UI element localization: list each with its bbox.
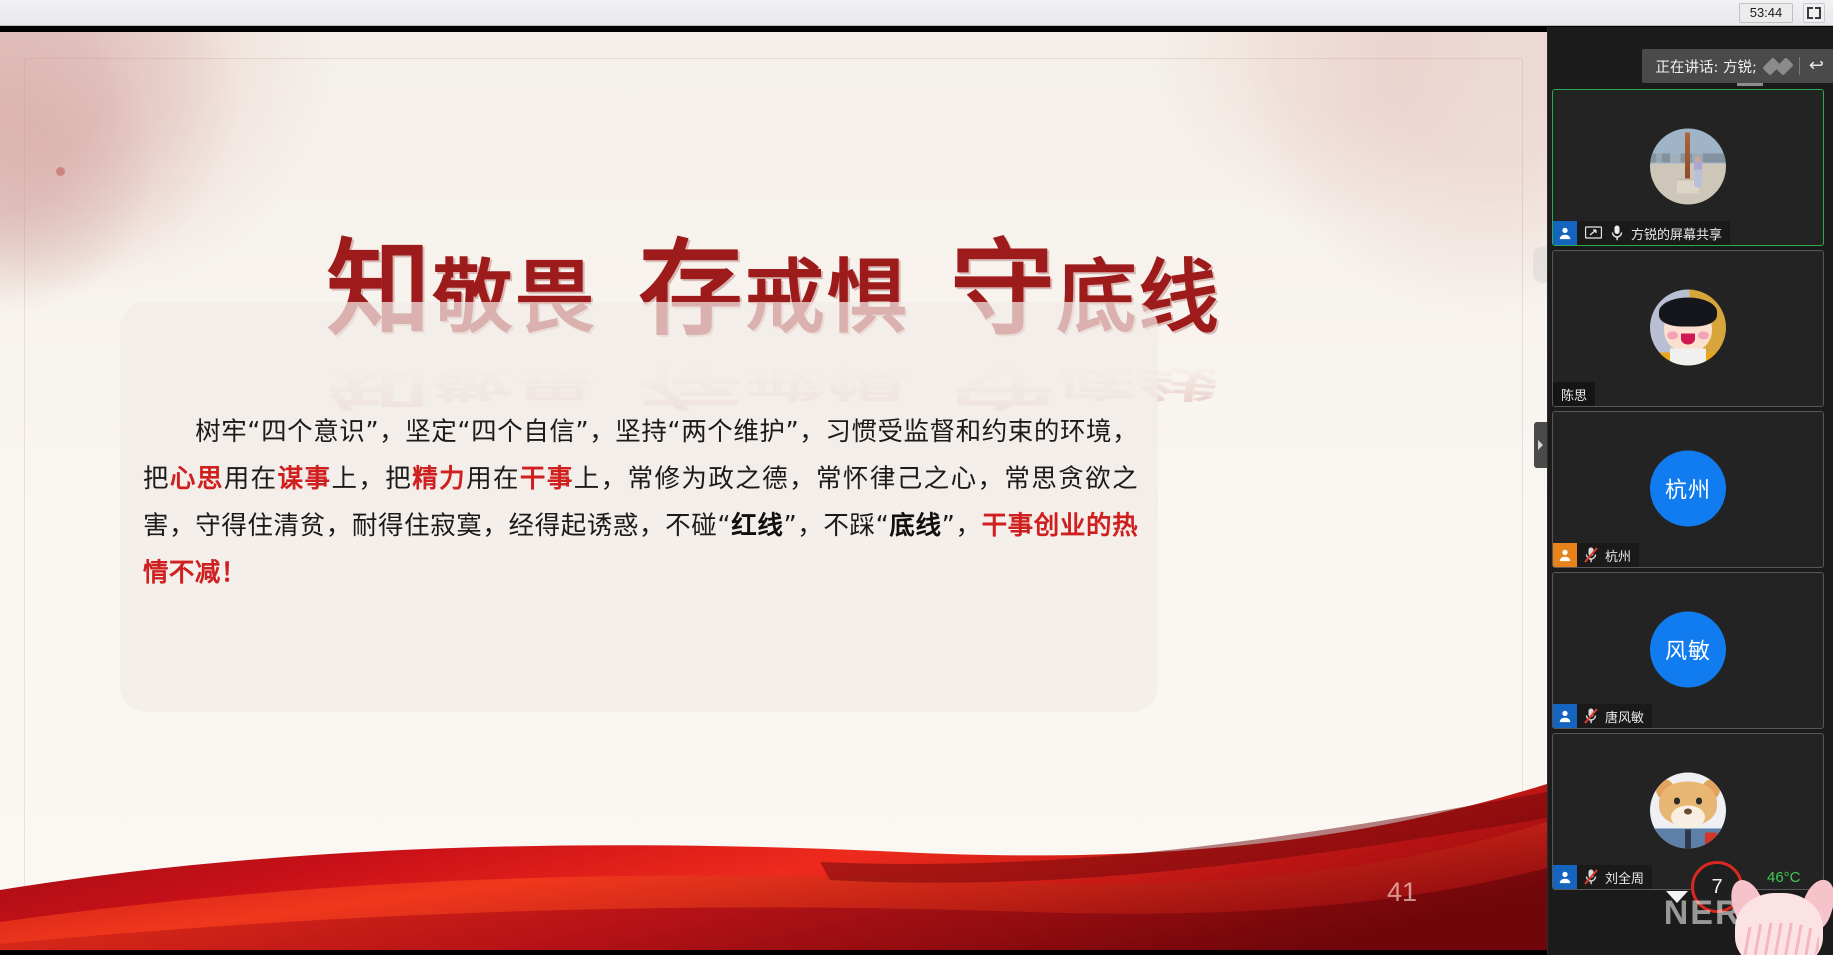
avatar	[1650, 128, 1726, 204]
body-run-5: 上，把	[331, 464, 412, 494]
participant-tile-4[interactable]: 风敏 唐风敏	[1552, 572, 1824, 729]
participant-name-1: 方锐的屏幕共享	[1631, 224, 1722, 243]
presentation-slide: 知敬畏存戒惧守底线 知敬畏存戒惧守底线 树牢“四个意识”，坚定“四个自信”，坚持…	[0, 32, 1547, 950]
participant-tile-3[interactable]: 杭州 杭州	[1552, 411, 1824, 568]
person-icon	[1553, 543, 1577, 567]
microphone-muted-icon	[1583, 868, 1599, 886]
avatar: 杭州	[1650, 450, 1726, 526]
participant-label-2: 陈思	[1553, 382, 1595, 406]
person-icon	[1553, 704, 1577, 728]
participant-label-4: 唐风敏	[1553, 704, 1652, 728]
microphone-icon	[1609, 224, 1625, 242]
meeting-timer: 53:44	[1739, 3, 1793, 23]
slide-page-number: 41	[1387, 877, 1417, 908]
body-run-2: 心思	[170, 464, 224, 494]
microphone-muted-icon	[1583, 546, 1599, 564]
participant-name-2: 陈思	[1561, 385, 1587, 404]
fullscreen-icon[interactable]	[1803, 3, 1825, 23]
decor-dot	[56, 167, 65, 176]
body-run-15: ！	[221, 558, 247, 588]
audio-wave-icon	[1766, 59, 1790, 74]
participant-label-5: 刘全周	[1553, 865, 1652, 889]
body-run-7: 用在	[466, 464, 520, 494]
participant-name-3: 杭州	[1605, 546, 1631, 565]
participant-name-4: 唐风敏	[1605, 707, 1644, 726]
participant-name-5: 刘全周	[1605, 868, 1644, 887]
speaking-banner-label: 正在讲话: 方锐;	[1656, 56, 1757, 77]
banner-notch	[1737, 83, 1763, 86]
body-run-3: 用在	[224, 464, 278, 494]
screen-share-icon	[1583, 224, 1603, 242]
avatar	[1650, 289, 1726, 365]
speaking-banner: 正在讲话: 方锐; ↩	[1642, 49, 1833, 83]
body-run-11: ”，不踩“	[783, 511, 889, 541]
avatar: 风敏	[1650, 611, 1726, 687]
banner-divider	[1799, 57, 1800, 75]
participant-tile-2[interactable]: 陈思	[1552, 250, 1824, 407]
participant-tile-1[interactable]: 方锐的屏幕共享	[1552, 89, 1824, 246]
body-run-10: 红线	[731, 511, 783, 541]
slide-body-text: 树牢“四个意识”，坚定“四个自信”，坚持“两个维护”，习惯受监督和约束的环境，把…	[143, 409, 1138, 597]
body-run-13: ”，	[942, 511, 982, 541]
ribbon-shape	[0, 740, 1547, 950]
top-toolbar: 53:44	[0, 0, 1833, 26]
person-icon	[1553, 865, 1577, 889]
back-arrow-icon[interactable]: ↩	[1809, 57, 1824, 75]
avatar	[1650, 772, 1726, 848]
microphone-muted-icon	[1583, 707, 1599, 725]
body-run-4: 谋事	[278, 464, 332, 494]
body-run-8: 干事	[520, 464, 574, 494]
person-icon	[1553, 221, 1577, 245]
participant-label-3: 杭州	[1553, 543, 1639, 567]
stage-side-tab[interactable]	[1533, 247, 1547, 283]
cat-watermark-icon: Better me!	[1721, 869, 1833, 955]
slide-ribbon-decoration: 41	[0, 740, 1547, 950]
body-run-12: 底线	[889, 511, 941, 541]
participant-rail: 正在讲话: 方锐; ↩	[1547, 27, 1833, 955]
floating-overlay-widget[interactable]: 7 46°C NERT Better me!	[1663, 859, 1833, 955]
body-run-6: 精力	[412, 464, 466, 494]
collapse-panel-handle[interactable]	[1534, 422, 1547, 468]
participant-tiles[interactable]: 方锐的屏幕共享 陈思 杭州	[1552, 89, 1830, 955]
participant-label-1: 方锐的屏幕共享	[1553, 221, 1730, 245]
shared-screen-stage[interactable]: 知敬畏存戒惧守底线 知敬畏存戒惧守底线 树牢“四个意识”，坚定“四个自信”，坚持…	[0, 27, 1547, 955]
meeting-window: 53:44 知敬畏存戒惧守底线 知敬畏存戒惧守底线	[0, 0, 1833, 955]
